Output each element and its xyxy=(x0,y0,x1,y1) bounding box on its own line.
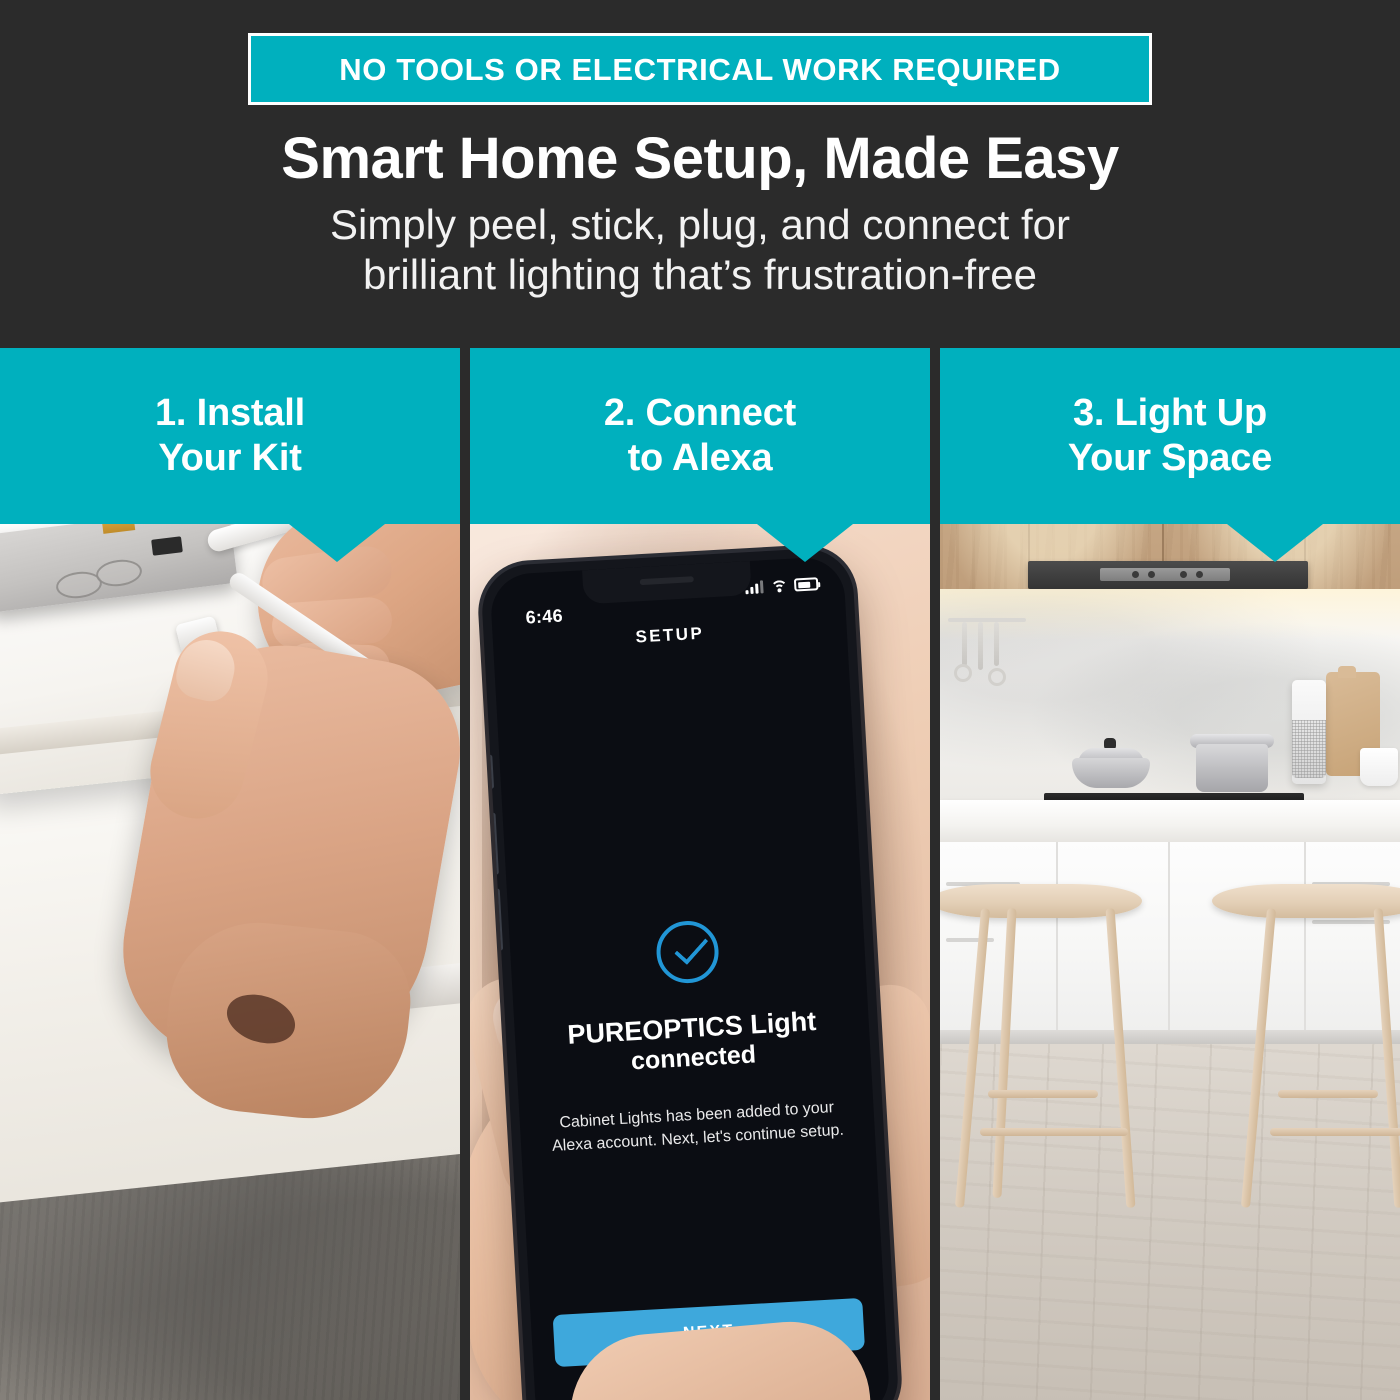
step-card-connect: 6:46 SETUP PUREOPTICS Light connected xyxy=(470,348,930,1400)
frying-pan xyxy=(1072,758,1150,788)
stool-seat-right xyxy=(1212,884,1400,918)
subtitle-line-2: brilliant lighting that’s frustration-fr… xyxy=(0,250,1400,300)
utensil-head-strainer xyxy=(988,668,1006,686)
cellular-signal-icon xyxy=(745,580,764,594)
step-1-title-line-1: 1. Install xyxy=(155,391,305,436)
step-1-title: 1. Install Your Kit xyxy=(155,391,305,481)
panel-divider-2 xyxy=(930,348,940,1400)
hood-knob-3[interactable] xyxy=(1180,571,1187,578)
step-2-pointer-notch xyxy=(757,524,853,562)
connected-heading: PUREOPTICS Light connected xyxy=(528,1004,857,1082)
step-1-title-line-2: Your Kit xyxy=(155,436,305,481)
steps-grid: 1. Install Your Kit 6:46 xyxy=(0,348,1400,1400)
utensil-1 xyxy=(962,622,967,666)
step-2-header: 2. Connect to Alexa xyxy=(470,348,930,524)
utensil-rack xyxy=(948,618,1026,622)
stool-cross-rail-left xyxy=(988,1090,1098,1098)
step-3-title-line-1: 3. Light Up xyxy=(1068,391,1272,436)
no-tools-banner: NO TOOLS OR ELECTRICAL WORK REQUIRED xyxy=(248,33,1152,105)
lower-cabinet-seam-3 xyxy=(1304,842,1306,1030)
under-cabinet-light-glow xyxy=(940,589,1400,641)
step-card-install: 1. Install Your Kit xyxy=(0,348,460,1400)
step-2-title-line-2: to Alexa xyxy=(604,436,796,481)
utensil-2 xyxy=(978,622,983,670)
stool-footrest-left xyxy=(980,1128,1128,1136)
stool-cross-rail-right xyxy=(1278,1090,1378,1098)
step-3-header: 3. Light Up Your Space xyxy=(940,348,1400,524)
wifi-icon xyxy=(770,579,788,593)
page-subtitle: Simply peel, stick, plug, and connect fo… xyxy=(0,200,1400,299)
hood-knob-1[interactable] xyxy=(1132,571,1139,578)
kitchen-island-countertop xyxy=(940,800,1400,842)
success-check-icon xyxy=(655,919,720,984)
lower-cabinet-seam-2 xyxy=(1168,842,1170,1030)
step-2-title-line-1: 2. Connect xyxy=(604,391,796,436)
step-3-title: 3. Light Up Your Space xyxy=(1068,391,1272,481)
hood-knob-4[interactable] xyxy=(1196,571,1203,578)
step-1-pointer-notch xyxy=(289,524,385,562)
battery-icon xyxy=(794,577,819,591)
range-hood-control-panel xyxy=(1100,568,1230,581)
connected-body-text: Cabinet Lights has been added to your Al… xyxy=(541,1096,853,1159)
step-card-light-up: 3. Light Up Your Space xyxy=(940,348,1400,1400)
stock-pot xyxy=(1196,744,1268,792)
smartphone: 6:46 SETUP PUREOPTICS Light connected xyxy=(480,546,901,1400)
banner-label: NO TOOLS OR ELECTRICAL WORK REQUIRED xyxy=(339,54,1060,85)
coffee-mug xyxy=(1360,748,1398,786)
subtitle-line-1: Simply peel, stick, plug, and connect fo… xyxy=(0,200,1400,250)
cutting-board-handle xyxy=(1338,666,1356,678)
utensil-head-ladle xyxy=(954,664,972,682)
page-title: Smart Home Setup, Made Easy xyxy=(0,128,1400,191)
step-3-title-line-2: Your Space xyxy=(1068,436,1272,481)
echo-speaker-mesh xyxy=(1292,720,1326,778)
step-3-pointer-notch xyxy=(1227,524,1323,562)
phone-screen: 6:46 SETUP PUREOPTICS Light connected xyxy=(489,556,891,1400)
lower-cabinet-seam-1 xyxy=(1056,842,1058,1030)
panel-divider-1 xyxy=(460,348,470,1400)
checkmark-glyph xyxy=(674,930,708,965)
step-1-header: 1. Install Your Kit xyxy=(0,348,460,524)
hood-knob-2[interactable] xyxy=(1148,571,1155,578)
step-2-title: 2. Connect to Alexa xyxy=(604,391,796,481)
status-bar-icons xyxy=(745,577,819,594)
status-bar-time: 6:46 xyxy=(525,606,563,629)
stool-footrest-right xyxy=(1270,1128,1400,1136)
header-section: NO TOOLS OR ELECTRICAL WORK REQUIRED Sma… xyxy=(0,0,1400,348)
utensil-3 xyxy=(994,622,999,666)
